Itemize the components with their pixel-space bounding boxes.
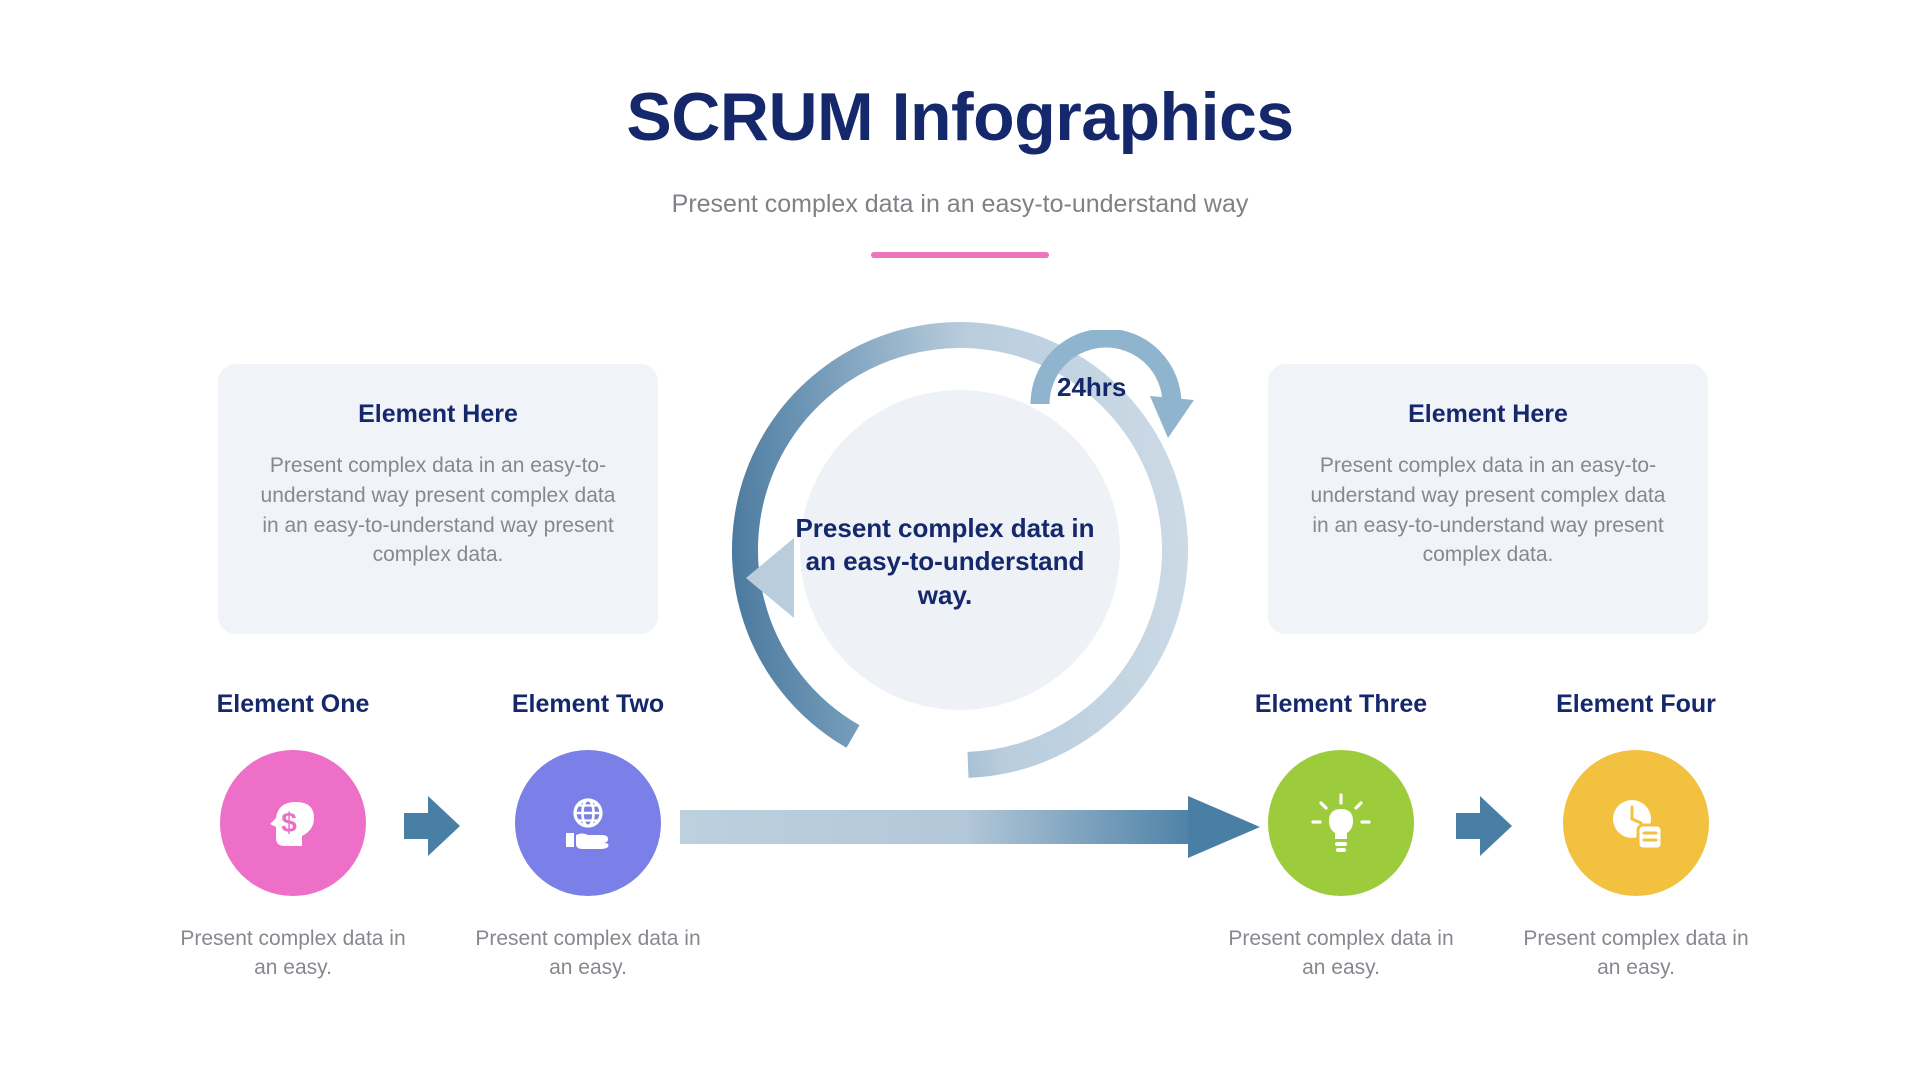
step-three-circle[interactable] [1268,750,1414,896]
hours-badge-label: 24hrs [1057,372,1126,403]
page-subtitle: Present complex data in an easy-to-under… [0,190,1920,219]
step-four-title: Element Four [1511,690,1761,724]
step-four-circle[interactable] [1563,750,1709,896]
head-dollar-icon: $ [262,792,324,854]
clock-document-icon [1604,791,1668,855]
mini-arrow-head [1480,796,1512,856]
step-three-caption: Present complex data in an easy. [1216,924,1466,983]
step-one-title: Element One [168,690,418,724]
hours-badge-arrow-head [1150,396,1194,438]
title-divider [871,252,1049,258]
step-two-title: Element Two [463,690,713,724]
step-element-two[interactable]: Element Two Present complex data in an e… [463,690,713,983]
step-element-four[interactable]: Element Four Present complex data in an … [1511,690,1761,983]
step-one-circle[interactable]: $ [220,750,366,896]
process-long-arrow [680,796,1260,858]
page-title: SCRUM Infographics [0,78,1920,156]
info-card-right-body: Present complex data in an easy-to-under… [1302,451,1674,570]
info-card-right-title: Element Here [1302,400,1674,429]
step-element-one[interactable]: Element One $ Present complex data in an… [168,690,418,983]
svg-text:$: $ [281,807,297,838]
info-card-left-title: Element Here [252,400,624,429]
infographic-slide: SCRUM Infographics Present complex data … [0,0,1920,1080]
step-one-caption: Present complex data in an easy. [168,924,418,983]
info-card-right: Element Here Present complex data in an … [1268,364,1708,634]
mini-arrow-head [428,796,460,856]
info-card-left-body: Present complex data in an easy-to-under… [252,451,624,570]
globe-in-hand-icon [556,791,620,855]
info-card-left: Element Here Present complex data in an … [218,364,658,634]
step-three-title: Element Three [1216,690,1466,724]
step-two-caption: Present complex data in an easy. [463,924,713,983]
long-arrow-shaft [680,810,1200,844]
lightbulb-icon [1309,791,1373,855]
step-two-circle[interactable] [515,750,661,896]
step-element-three[interactable]: Element Three Present complex data [1216,690,1466,983]
step-four-caption: Present complex data in an easy. [1511,924,1761,983]
